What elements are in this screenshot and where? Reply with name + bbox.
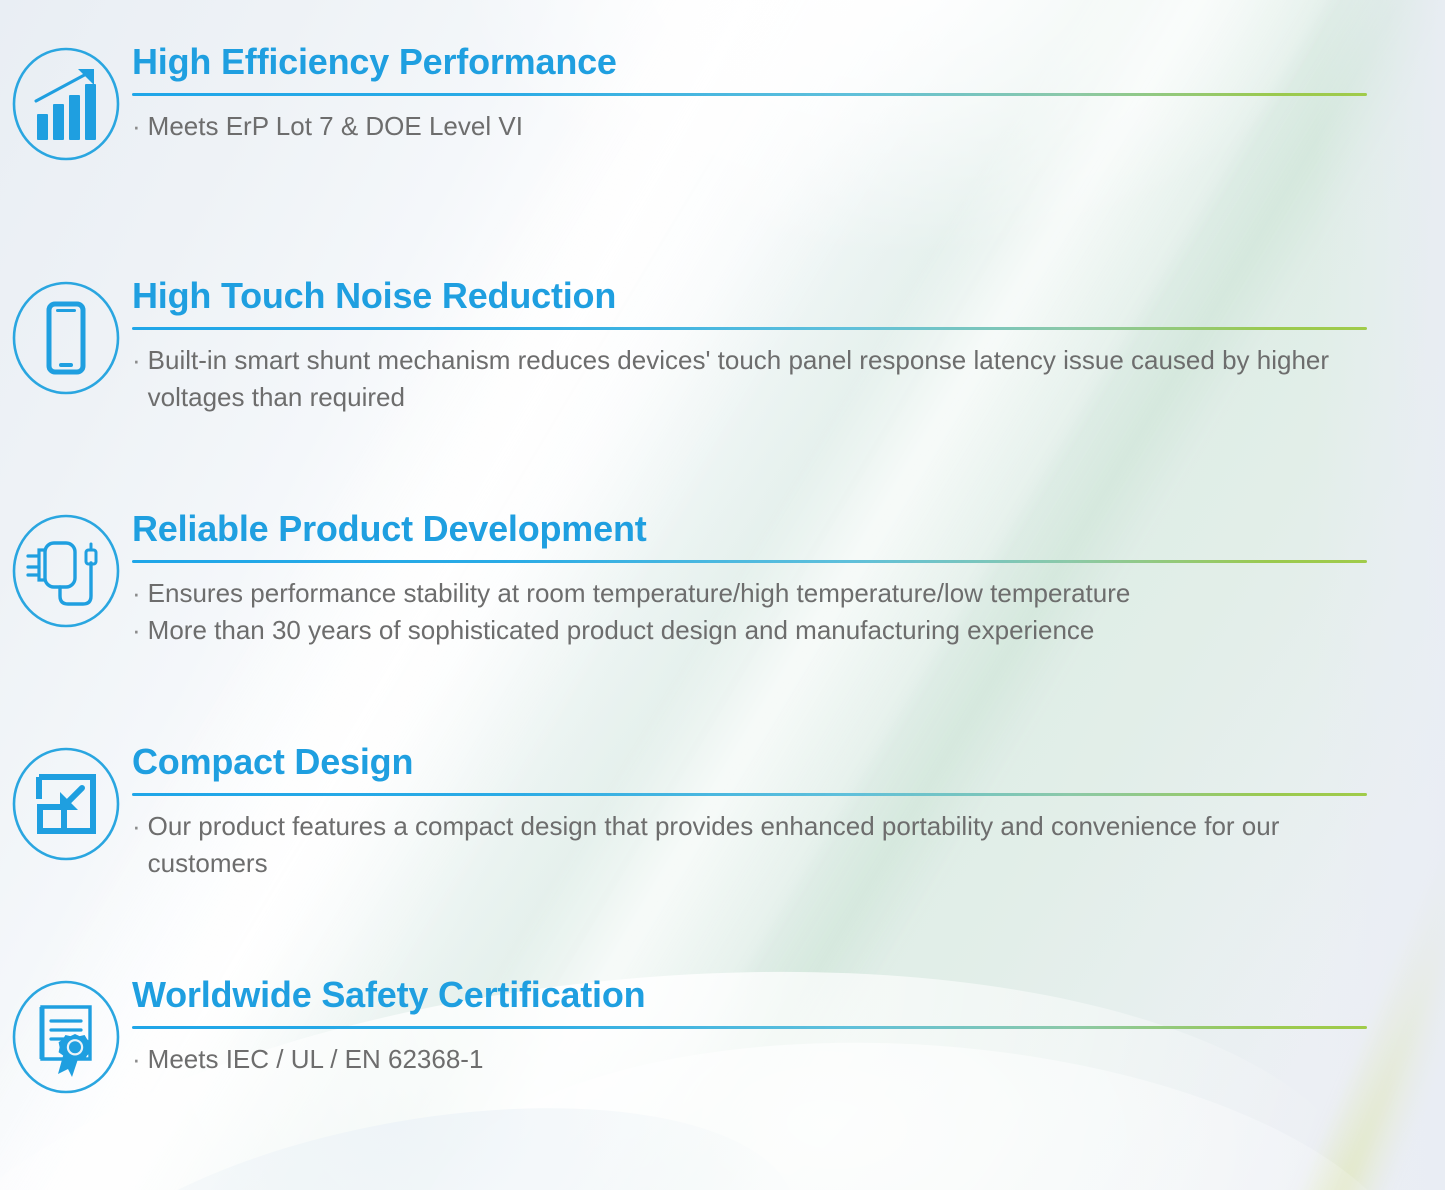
feature-divider <box>132 1026 1367 1029</box>
feature-icon-container <box>0 742 132 864</box>
feature-icon-container <box>0 975 132 1097</box>
feature-highlights-slide: High Efficiency Performance · Meets ErP … <box>0 0 1445 1190</box>
feature-bullet: · Meets ErP Lot 7 & DOE Level VI <box>132 108 1367 145</box>
feature-bullet: · Meets IEC / UL / EN 62368-1 <box>132 1041 1367 1078</box>
feature-divider <box>132 327 1367 330</box>
bullet-marker-icon: · <box>132 575 141 612</box>
compact-resize-icon <box>6 744 126 864</box>
power-adapter-icon <box>6 511 126 631</box>
feature-row: Worldwide Safety Certification · Meets I… <box>0 975 1445 1097</box>
feature-bullet-list: · Meets ErP Lot 7 & DOE Level VI <box>132 108 1367 145</box>
feature-title: Reliable Product Development <box>132 509 1367 549</box>
feature-row: High Efficiency Performance · Meets ErP … <box>0 42 1445 164</box>
bullet-text: Our product features a compact design th… <box>148 808 1367 882</box>
feature-divider <box>132 793 1367 796</box>
feature-row: High Touch Noise Reduction · Built-in sm… <box>0 276 1445 416</box>
smartphone-icon <box>6 278 126 398</box>
feature-title: Compact Design <box>132 742 1367 782</box>
bar-chart-growth-icon <box>6 44 126 164</box>
certificate-award-icon <box>6 977 126 1097</box>
feature-row: Compact Design · Our product features a … <box>0 742 1445 882</box>
feature-bullet-list: · Ensures performance stability at room … <box>132 575 1367 649</box>
feature-title: High Efficiency Performance <box>132 42 1367 82</box>
bullet-text: Ensures performance stability at room te… <box>148 575 1367 612</box>
feature-divider <box>132 93 1367 96</box>
feature-bullet-list: · Our product features a compact design … <box>132 808 1367 882</box>
feature-content: High Touch Noise Reduction · Built-in sm… <box>132 276 1445 416</box>
feature-divider <box>132 560 1367 563</box>
bullet-text: Meets IEC / UL / EN 62368-1 <box>148 1041 1367 1078</box>
feature-content: High Efficiency Performance · Meets ErP … <box>132 42 1445 145</box>
feature-icon-container <box>0 509 132 631</box>
feature-title: Worldwide Safety Certification <box>132 975 1367 1015</box>
feature-icon-container <box>0 42 132 164</box>
bullet-marker-icon: · <box>132 342 141 379</box>
feature-bullet-list: · Built-in smart shunt mechanism reduces… <box>132 342 1367 416</box>
feature-content: Compact Design · Our product features a … <box>132 742 1445 882</box>
feature-list: High Efficiency Performance · Meets ErP … <box>0 0 1445 1190</box>
bullet-marker-icon: · <box>132 108 141 145</box>
feature-icon-container <box>0 276 132 398</box>
feature-title: High Touch Noise Reduction <box>132 276 1367 316</box>
bullet-marker-icon: · <box>132 612 141 649</box>
feature-row: Reliable Product Development · Ensures p… <box>0 509 1445 649</box>
bullet-marker-icon: · <box>132 808 141 845</box>
bullet-text: More than 30 years of sophisticated prod… <box>148 612 1367 649</box>
bullet-text: Meets ErP Lot 7 & DOE Level VI <box>148 108 1367 145</box>
feature-bullet: · More than 30 years of sophisticated pr… <box>132 612 1367 649</box>
feature-bullet-list: · Meets IEC / UL / EN 62368-1 <box>132 1041 1367 1078</box>
feature-bullet: · Our product features a compact design … <box>132 808 1367 882</box>
bullet-text: Built-in smart shunt mechanism reduces d… <box>148 342 1367 416</box>
feature-content: Reliable Product Development · Ensures p… <box>132 509 1445 649</box>
bullet-marker-icon: · <box>132 1041 141 1078</box>
feature-bullet: · Ensures performance stability at room … <box>132 575 1367 612</box>
feature-content: Worldwide Safety Certification · Meets I… <box>132 975 1445 1078</box>
feature-bullet: · Built-in smart shunt mechanism reduces… <box>132 342 1367 416</box>
